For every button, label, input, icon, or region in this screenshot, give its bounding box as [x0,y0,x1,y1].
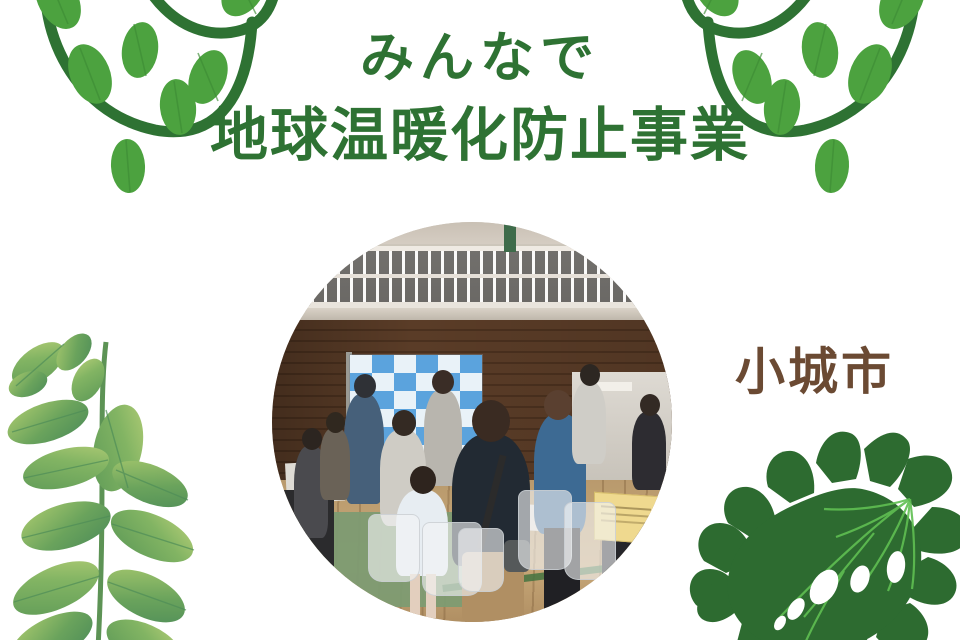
photo-person-background-right [632,412,666,490]
photo-person-head [472,400,510,442]
photo-person-head [354,374,376,398]
photo-person-head [326,412,345,433]
photo-person-left-back [320,428,350,500]
photo-person-head [640,394,660,416]
city-name-label: 小城市 [735,332,894,404]
event-photo-circle [272,222,672,622]
photo-plastic-bag [564,502,616,580]
photo-person-head [302,428,322,450]
photo-person-head [544,390,572,420]
photo-person-head [432,370,454,394]
photo-rail-top-bar [272,246,672,251]
photo-rail-middle-bar [272,274,672,278]
event-photo-content [272,222,672,622]
vine-top-right-decoration [680,0,960,217]
photo-person-blue-jacket [344,394,384,504]
photo-plastic-bag [368,514,420,582]
photo-green-post [504,222,516,252]
photo-plastic-bag [458,528,504,592]
photo-child-head [410,466,436,494]
vine-top-left-decoration [0,0,280,217]
photo-person-background [572,382,606,464]
watercolor-branch-decoration [0,318,224,640]
photo-person-head [580,364,600,386]
photo-person-head [392,410,416,436]
monstera-leaf-decoration [684,411,960,640]
poster-canvas: みんなで 地球温暖化防止事業 小城市 [0,0,960,640]
